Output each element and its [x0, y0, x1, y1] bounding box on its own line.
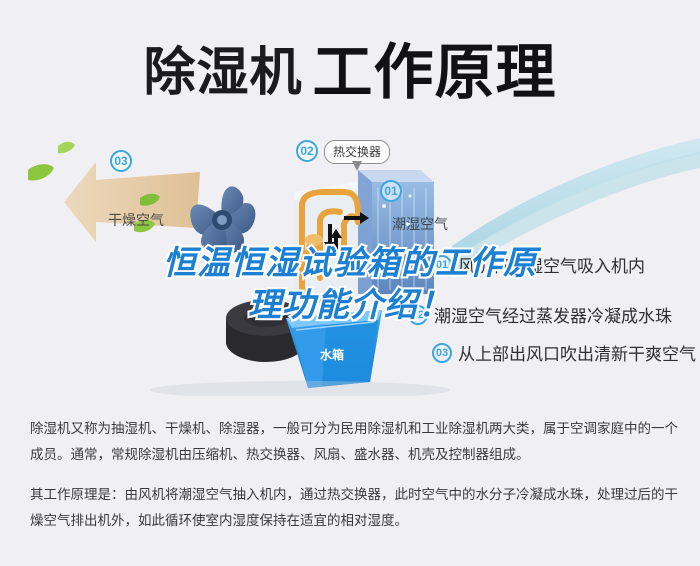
title-main: 除湿机 [143, 44, 302, 102]
badge-01: 01 [380, 180, 402, 202]
body-paragraph-2: 其工作原理是：由风机将潮湿空气抽入机内，通过热交换器，此时空气中的水分子冷凝成水… [30, 482, 678, 534]
step-text-01: 风机将潮湿空气吸入机内 [458, 252, 645, 277]
title-sub: 工作原理 [313, 39, 557, 106]
label-water-tank: 水箱 [320, 346, 344, 363]
step-badge-01: 01 [432, 255, 452, 275]
callout-pointer-icon [352, 161, 362, 171]
page-title: 除湿机工作原理 [0, 24, 700, 111]
label-humid-air: 潮湿空气 [392, 214, 448, 234]
article-body: 除湿机又称为抽湿机、干燥机、除湿器，一般可分为民用除湿机和工业除湿机两大类，属于… [30, 416, 678, 548]
page-root: 除湿机工作原理 [0, 0, 700, 566]
dehumidifier-diagram: 03 02 01 热交换器 干燥空气 潮湿空气 水箱 01 风机将潮湿空气吸入机… [0, 128, 700, 396]
step-text-02: 潮湿空气经过蒸发器冷凝成水珠 [434, 302, 672, 327]
body-paragraph-1: 除湿机又称为抽湿机、干燥机、除湿器，一般可分为民用除湿机和工业除湿机两大类，属于… [30, 416, 678, 468]
step-badge-02: 02 [408, 305, 428, 325]
step-badge-03: 03 [432, 343, 452, 363]
step-line-01: 01 风机将潮湿空气吸入机内 [432, 252, 645, 277]
step-text-03: 从上部出风口吹出清新干爽空气 [458, 340, 696, 365]
step-line-03: 03 从上部出风口吹出清新干爽空气 [432, 340, 696, 365]
step-line-02: 02 潮湿空气经过蒸发器冷凝成水珠 [408, 302, 672, 327]
badge-03: 03 [110, 150, 132, 172]
badge-02: 02 [296, 140, 318, 162]
label-dry-air: 干燥空气 [108, 210, 164, 230]
